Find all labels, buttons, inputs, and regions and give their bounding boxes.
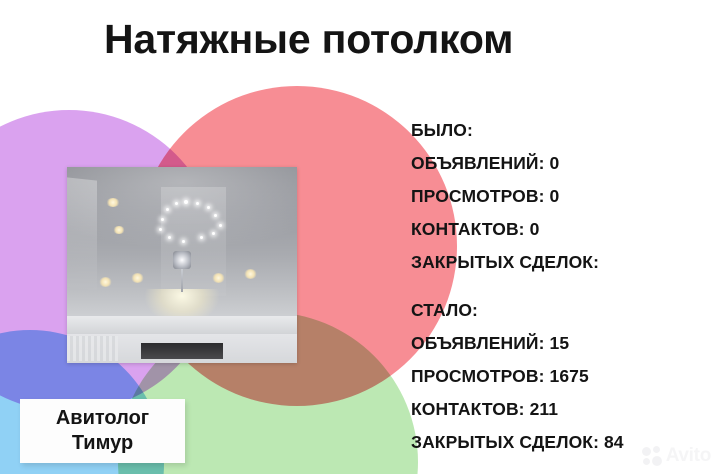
stats-after-line: КОНТАКТОВ: 211 [411, 393, 624, 426]
avito-watermark: Avito [642, 445, 711, 467]
photo-spot-light [244, 269, 257, 279]
photo-spot-light [99, 277, 112, 287]
stats-after-heading: СТАЛО: [411, 294, 624, 327]
stats-before-line: ОБЪЯВЛЕНИЙ: 0 [411, 147, 599, 180]
nameplate-line-name: Тимур [72, 431, 133, 456]
stats-after-line: ПРОСМОТРОВ: 1675 [411, 360, 624, 393]
stats-before-line: ЗАКРЫТЫХ СДЕЛОК: [411, 246, 599, 279]
photo-sparkle [168, 236, 171, 239]
stats-after-line: ОБЪЯВЛЕНИЙ: 15 [411, 327, 624, 360]
photo-spot-light [212, 273, 225, 283]
nameplate-line-role: Авитолог [56, 406, 149, 431]
stats-block-after: СТАЛО: ОБЪЯВЛЕНИЙ: 15 ПРОСМОТРОВ: 1675 К… [411, 294, 624, 459]
avito-logo-icon [642, 446, 663, 467]
banner-canvas: Натяжные потолком БЫЛО: ОБЪЯВЛЕНИЙ: 0 ПР… [0, 0, 720, 474]
stats-block-before: БЫЛО: ОБЪЯВЛЕНИЙ: 0 ПРОСМОТРОВ: 0 КОНТАК… [411, 114, 599, 279]
photo-ceiling-reflection [113, 226, 125, 234]
stats-before-line: ПРОСМОТРОВ: 0 [411, 180, 599, 213]
photo-dark-panel [141, 343, 224, 359]
author-nameplate: Авитолог Тимур [20, 399, 185, 463]
photo-chandelier-body [173, 251, 191, 269]
photo-moulding [67, 336, 118, 361]
photo-sparkle [219, 224, 222, 227]
ceiling-photo [67, 167, 297, 363]
stats-before-line: КОНТАКТОВ: 0 [411, 213, 599, 246]
photo-sparkle [212, 232, 215, 235]
photo-chandelier-stem [181, 269, 184, 293]
photo-sparkle [182, 240, 185, 243]
stats-after-line: ЗАКРЫТЫХ СДЕЛОК: 84 [411, 426, 624, 459]
avito-watermark-text: Avito [666, 445, 711, 467]
photo-sparkle [159, 228, 162, 231]
page-title: Натяжные потолком [104, 18, 694, 61]
stats-before-heading: БЫЛО: [411, 114, 599, 147]
photo-cornice [67, 316, 297, 334]
photo-wall-reflection [67, 177, 97, 290]
